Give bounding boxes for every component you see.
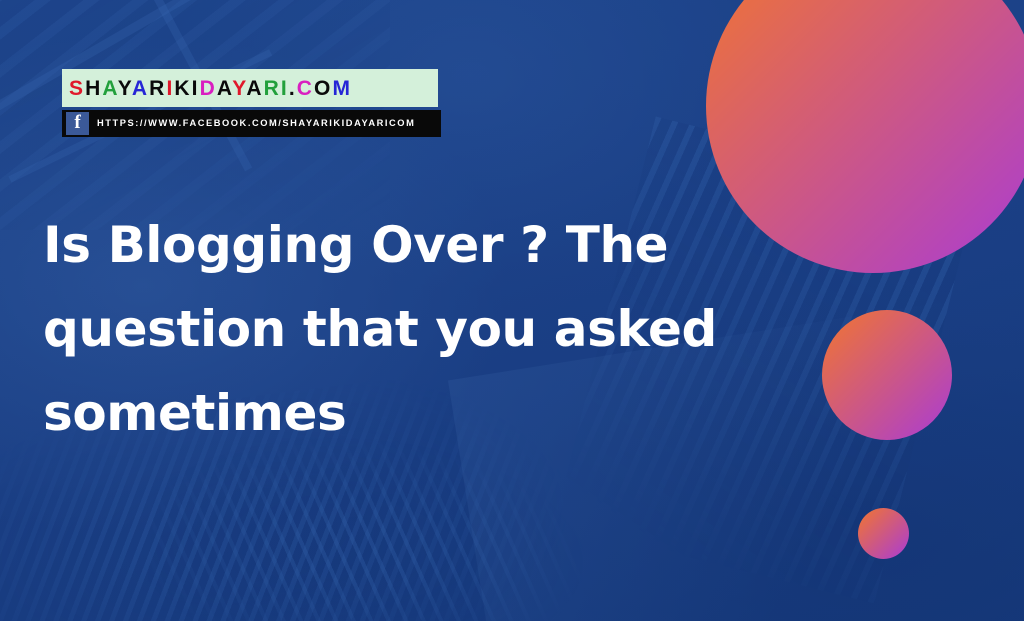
logo-letter-14: I [281, 77, 289, 100]
logo-letter-13: R [264, 77, 281, 100]
logo-letter-18: M [332, 77, 352, 100]
logo-letter-8: I [192, 77, 200, 100]
logo-letter-1: H [85, 77, 102, 100]
logo-letter-17: O [314, 77, 332, 100]
facebook-icon[interactable]: f [66, 112, 89, 135]
logo-letter-7: K [174, 77, 191, 100]
logo-name-bar: SHAYARIKIDAYARI.COM [62, 69, 438, 107]
logo-letter-9: D [200, 77, 217, 100]
logo-letter-2: A [102, 77, 117, 100]
site-watermark-logo: SHAYARIKIDAYARI.COM f HTTPS://WWW.FACEBO… [62, 69, 441, 137]
page-title: Is Blogging Over ? Thequestion that you … [43, 203, 833, 455]
logo-letter-5: R [149, 77, 166, 100]
logo-letter-10: A [217, 77, 232, 100]
page-title-line-3: sometimes [43, 371, 833, 455]
decorative-circle-small [858, 508, 909, 559]
logo-letter-16: C [297, 77, 314, 100]
logo-letter-15: . [289, 77, 297, 100]
logo-letter-3: Y [118, 77, 132, 100]
logo-letter-11: Y [232, 77, 246, 100]
logo-facebook-bar: f HTTPS://WWW.FACEBOOK.COM/SHAYARIKIDAYA… [62, 110, 441, 137]
logo-letter-0: S [69, 77, 85, 100]
page-title-line-1: Is Blogging Over ? The [43, 203, 833, 287]
logo-site-name: SHAYARIKIDAYARI.COM [69, 78, 352, 99]
page-title-line-2: question that you asked [43, 287, 833, 371]
facebook-page-url[interactable]: HTTPS://WWW.FACEBOOK.COM/SHAYARIKIDAYARI… [97, 119, 415, 128]
logo-letter-4: A [132, 77, 149, 100]
decorative-circle-medium [822, 310, 952, 440]
logo-letter-12: A [246, 77, 263, 100]
blog-title-banner: SHAYARIKIDAYARI.COM f HTTPS://WWW.FACEBO… [0, 0, 1024, 621]
